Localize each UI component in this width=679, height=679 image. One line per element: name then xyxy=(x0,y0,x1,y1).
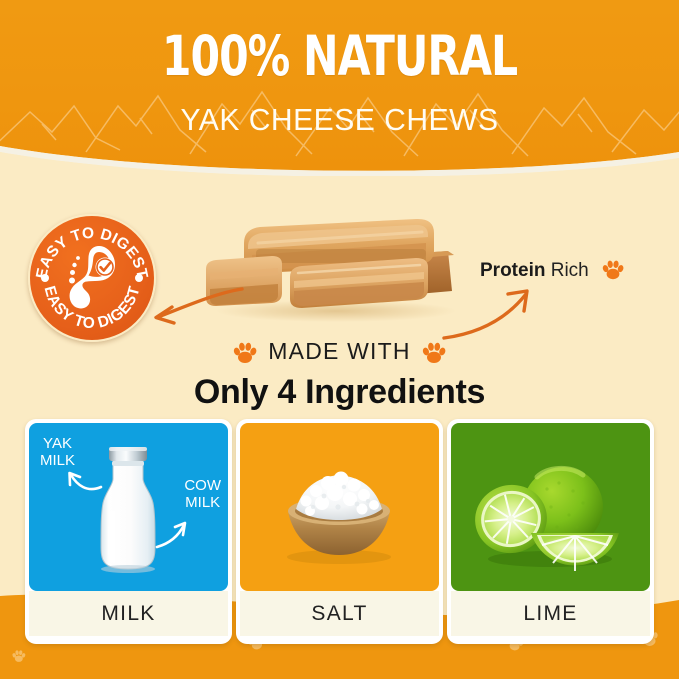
milk-note-cow: COW MILK xyxy=(184,477,221,511)
milk-note-yak: YAK MILK xyxy=(40,435,75,469)
salt-bowl-icon xyxy=(240,423,439,591)
card-label-lime: LIME xyxy=(451,591,650,636)
ingredients-headline: Only 4 Ingredients xyxy=(0,371,679,413)
header-banner: 100% NATURAL YAK CHEESE CHEWS xyxy=(0,0,679,176)
paw-icon xyxy=(233,342,257,370)
lime-fruit-icon xyxy=(451,423,650,591)
ingredient-cards: YAK MILK COW MILK MILK xyxy=(0,419,679,647)
ingredient-card-salt[interactable]: SALT xyxy=(236,419,443,644)
page-title: 100% NATURAL xyxy=(48,26,632,86)
lime-card-image xyxy=(451,423,650,591)
protein-word-light: Rich xyxy=(551,260,589,281)
arrow-to-badge xyxy=(136,283,248,331)
card-label-salt: SALT xyxy=(240,591,439,636)
page-subtitle: YAK CHEESE CHEWS xyxy=(10,103,669,137)
card-label-milk: MILK xyxy=(29,591,228,636)
made-with-line: MADE WITH xyxy=(0,337,679,370)
ingredient-card-lime[interactable]: LIME xyxy=(447,419,654,644)
ingredient-card-milk[interactable]: YAK MILK COW MILK MILK xyxy=(25,419,232,644)
salt-card-image xyxy=(240,423,439,591)
milk-card-image: YAK MILK COW MILK xyxy=(29,423,228,591)
infographic-page: 100% NATURAL YAK CHEESE CHEWS EASY TO DI… xyxy=(0,0,679,679)
badge-dot-right xyxy=(135,274,143,282)
arrow-to-protein-claim xyxy=(438,282,556,344)
stomach-check-icon xyxy=(58,242,128,314)
paw-icon xyxy=(422,342,446,370)
badge-dot-left xyxy=(41,274,49,282)
made-with-text: MADE WITH xyxy=(268,338,410,364)
protein-word-bold: Protein xyxy=(480,260,545,281)
paw-icon xyxy=(602,260,624,287)
protein-rich-claim: Protein Rich xyxy=(480,259,624,287)
